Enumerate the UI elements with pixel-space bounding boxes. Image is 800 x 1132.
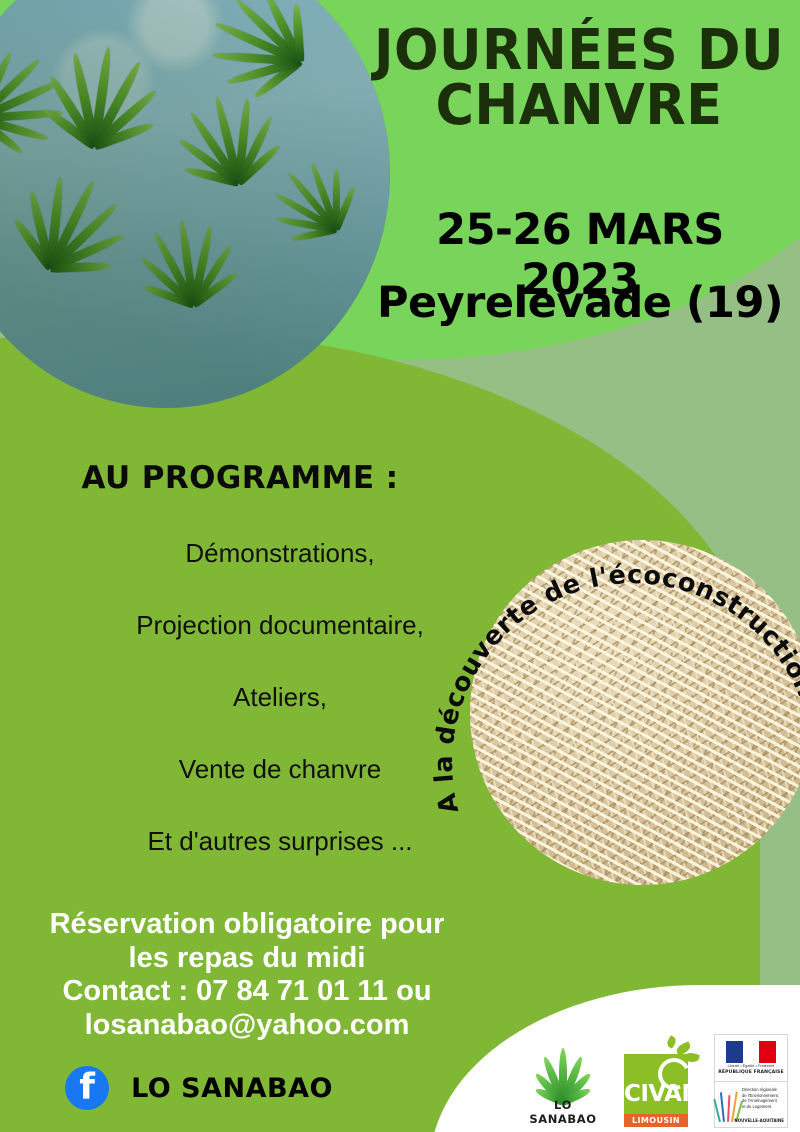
list-item: Ateliers, bbox=[56, 684, 504, 710]
logo-lo-sanabao-caption: LO SANABAO bbox=[520, 1098, 606, 1126]
dreal-line-2: de l'Environnement, bbox=[742, 1093, 779, 1098]
page-title: JOURNÉES DU CHANVRE bbox=[364, 24, 795, 134]
contact-email-line[interactable]: losanabao@yahoo.com bbox=[14, 1009, 480, 1043]
logo-lo-sanabao: LO SANABAO bbox=[520, 1036, 606, 1128]
hemp-shiv-texture bbox=[470, 540, 800, 885]
poster-canvas: A la découverte de l'écoconstruction JOU… bbox=[0, 0, 800, 1132]
event-location: Peyrelevade (19) bbox=[372, 278, 788, 328]
title-line-2: CHANVRE bbox=[364, 79, 795, 134]
republique-motto: Liberté • Égalité • Fraternité bbox=[715, 1064, 787, 1068]
dreal-line-3: de l'Aménagement bbox=[742, 1098, 777, 1103]
dreal-block: Direction régionale de l'Environnement, … bbox=[715, 1082, 787, 1127]
logo-civam: CIVAM LIMOUSIN bbox=[618, 1036, 702, 1128]
dreal-line-4: et du Logement bbox=[742, 1104, 771, 1109]
reservation-line-1: Réservation obligatoire pour bbox=[14, 908, 480, 942]
reservation-line-2: les repas du midi bbox=[14, 942, 480, 976]
french-flag-icon bbox=[726, 1041, 776, 1063]
partner-logos: LO SANABAO CIVAM LIMOUSIN Liberté • Égal… bbox=[520, 1032, 792, 1128]
programme-list: Démonstrations, Projection documentaire,… bbox=[16, 540, 504, 900]
dreal-region-label: NOUVELLE-AQUITAINE bbox=[734, 1118, 784, 1123]
programme-heading: AU PROGRAMME : bbox=[20, 460, 460, 496]
hemp-shiv-photo bbox=[470, 540, 800, 885]
list-item: Démonstrations, bbox=[56, 540, 504, 566]
civam-region-label: LIMOUSIN bbox=[624, 1114, 688, 1127]
hemp-field-photo bbox=[0, 0, 390, 408]
list-item: Vente de chanvre bbox=[56, 756, 504, 782]
list-item: Projection documentaire, bbox=[56, 612, 504, 638]
facebook-page-name[interactable]: LO SANABAO bbox=[131, 1073, 333, 1104]
contact-phone-line[interactable]: Contact : 07 84 71 01 11 ou bbox=[14, 975, 480, 1009]
facebook-icon[interactable] bbox=[65, 1066, 109, 1110]
republique-francaise-block: Liberté • Égalité • Fraternité RÉPUBLIQU… bbox=[715, 1035, 787, 1082]
list-item: Et d'autres surprises ... bbox=[56, 828, 504, 854]
logo-republique-francaise: Liberté • Égalité • Fraternité RÉPUBLIQU… bbox=[714, 1034, 788, 1128]
dreal-line-1: Direction régionale bbox=[742, 1087, 777, 1092]
leaf-icon bbox=[665, 1035, 678, 1049]
civam-wordmark: CIVAM bbox=[624, 1083, 688, 1106]
reservation-block: Réservation obligatoire pour les repas d… bbox=[14, 908, 480, 1043]
facebook-link[interactable]: LO SANABAO bbox=[14, 1066, 384, 1110]
title-line-1: JOURNÉES DU bbox=[364, 24, 795, 79]
republique-name: RÉPUBLIQUE FRANÇAISE bbox=[715, 1070, 787, 1075]
civam-orange-bar: LIMOUSIN bbox=[624, 1114, 688, 1127]
